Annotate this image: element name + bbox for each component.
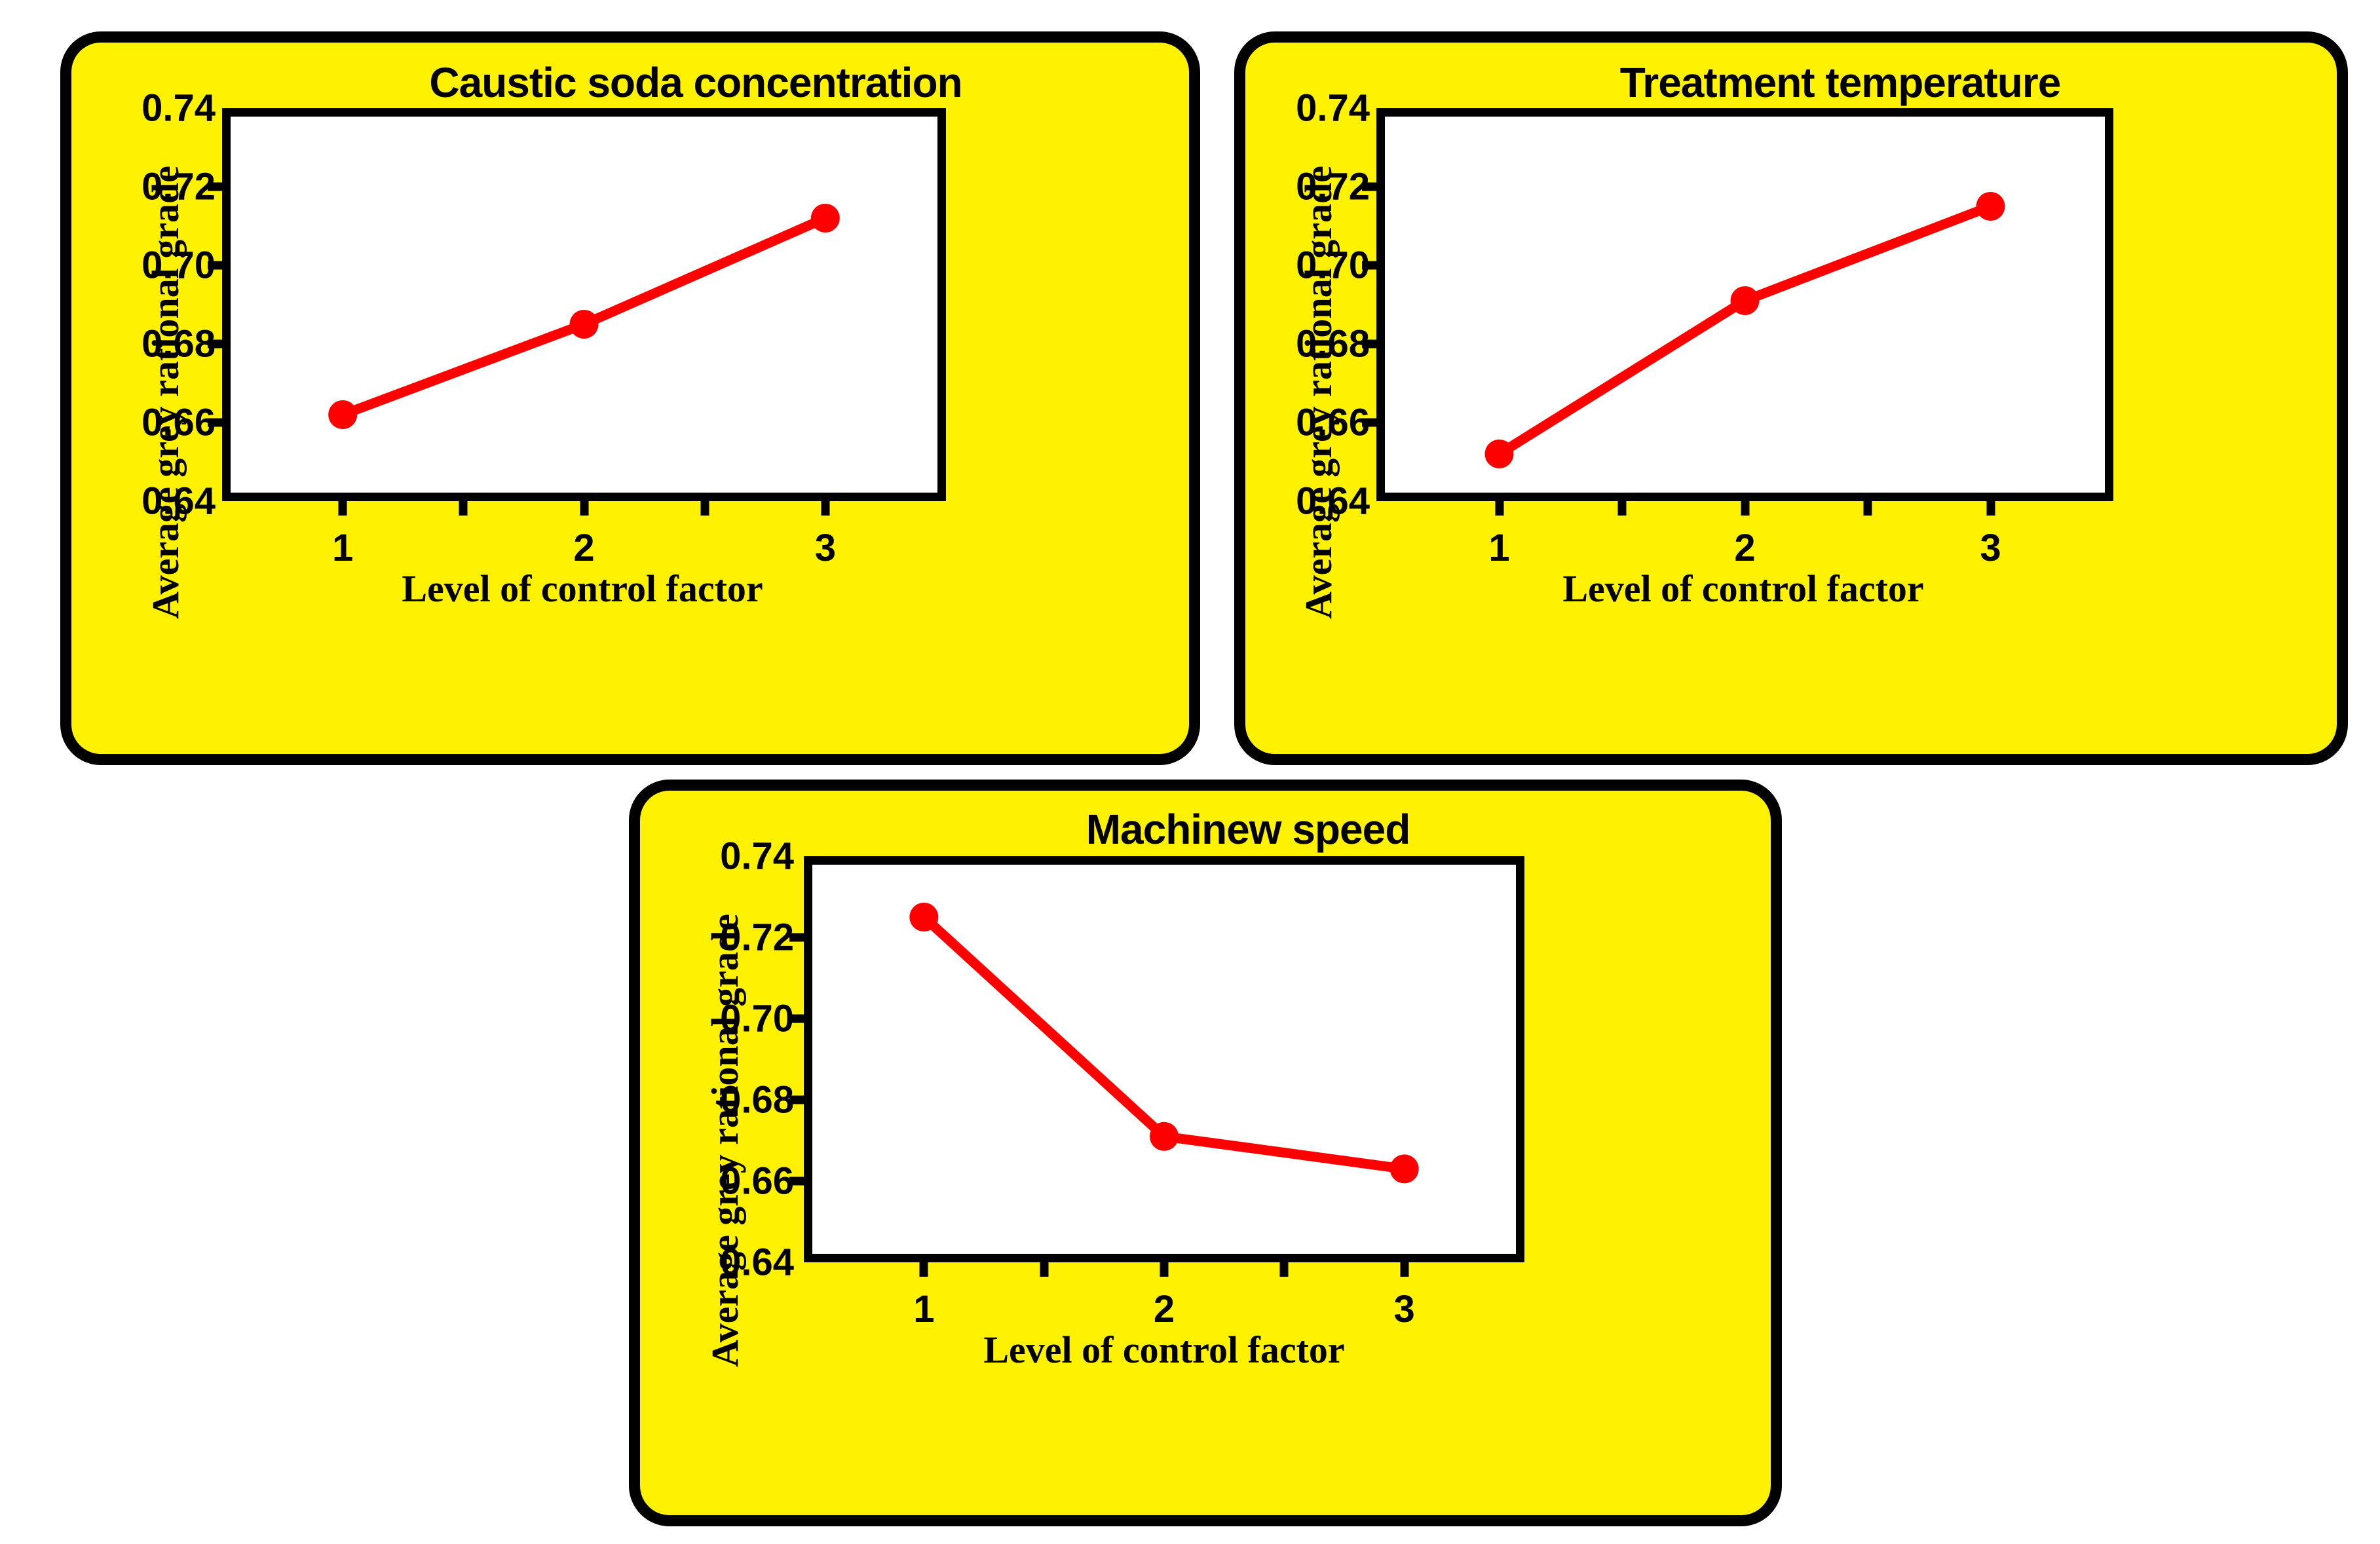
data-point-marker	[1390, 1154, 1419, 1183]
series-line-caustic-soda-concentration	[71, 43, 1189, 754]
data-point-marker	[570, 310, 599, 339]
series-line-treatment-temperature	[1245, 43, 2337, 754]
data-point-marker	[811, 204, 840, 233]
panel-treatment-temperature: Treatment temperature Average grey ratio…	[1234, 31, 2348, 765]
main-effects-plot-figure: Caustic soda concentration Average grey …	[0, 0, 2380, 1544]
data-point-marker	[1731, 286, 1760, 315]
panel-machinew-speed: Machinew speed Average grey rational gra…	[629, 780, 1782, 1526]
data-point-marker	[328, 400, 357, 429]
data-point-marker	[1150, 1122, 1179, 1151]
data-point-marker	[1485, 440, 1514, 468]
series-line-machinew-speed	[640, 791, 1771, 1515]
data-point-marker	[1976, 192, 2005, 221]
data-point-marker	[909, 903, 938, 932]
panel-caustic-soda-concentration: Caustic soda concentration Average grey …	[60, 31, 1200, 765]
series-polyline	[1500, 206, 1991, 454]
